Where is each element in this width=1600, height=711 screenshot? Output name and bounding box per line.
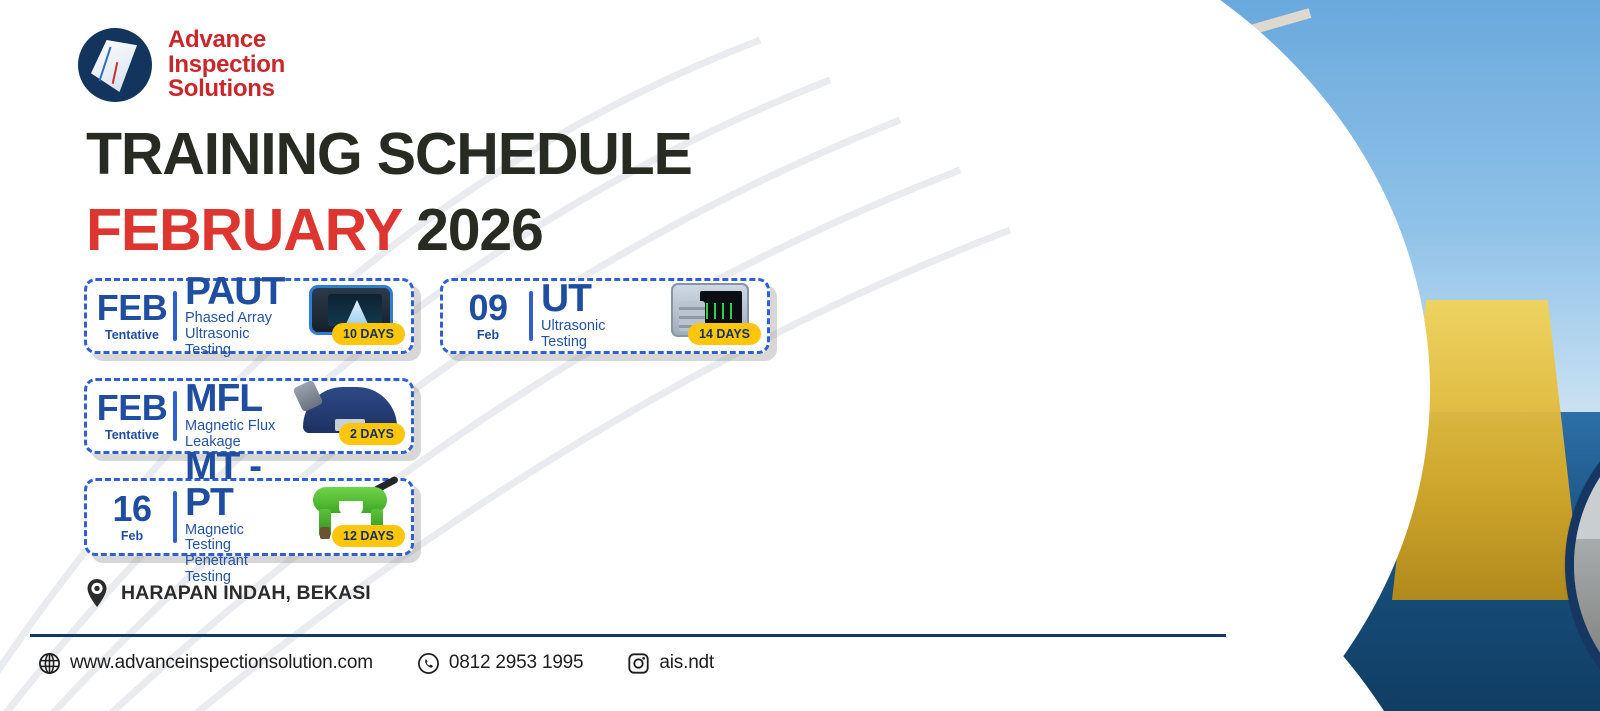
course-code: PAUT: [185, 274, 293, 310]
course-duration-badge: 14 DAYS: [688, 323, 761, 345]
course-date-small: Tentative: [105, 328, 159, 342]
course-card-mtpt[interactable]: 16 Feb MT -PT Magnetic Testing Penetrant…: [84, 478, 414, 556]
brand-line-3: Solutions: [168, 77, 285, 101]
course-desc-line-1: Phased Array: [185, 311, 293, 327]
course-date-big: FEB: [97, 390, 168, 425]
course-info: UT Ultrasonic Testing: [541, 281, 649, 351]
phone-label: 0812 2953 1995: [449, 652, 584, 674]
course-card-paut[interactable]: FEB Tentative PAUT Phased Array Ultrason…: [84, 278, 414, 354]
course-card-mfl[interactable]: FEB Tentative MFL Magnetic Flux Leakage …: [84, 378, 414, 454]
course-date-big: 09: [468, 290, 507, 325]
footer-instagram[interactable]: ais.ndt: [627, 652, 714, 675]
footer-website[interactable]: www.advanceinspectionsolution.com: [38, 652, 373, 675]
course-date: 09 Feb: [443, 281, 529, 351]
course-code: MT -PT: [185, 449, 293, 521]
location-label: HARAPAN INDAH, BEKASI: [121, 582, 371, 605]
page-title: TRAINING SCHEDULE: [86, 120, 692, 188]
course-desc-line-1: Magnetic Testing: [185, 523, 293, 554]
brand-name: Advance Inspection Solutions: [168, 28, 285, 101]
brand-line-2: Inspection: [168, 53, 285, 77]
website-label: www.advanceinspectionsolution.com: [70, 652, 373, 674]
divider: [173, 391, 177, 441]
course-media: 2 DAYS: [293, 381, 411, 451]
course-desc-line-1: Ultrasonic Testing: [541, 319, 649, 350]
map-pin-icon: [84, 578, 110, 608]
course-date: FEB Tentative: [87, 381, 173, 451]
divider: [529, 291, 533, 341]
course-card-ut[interactable]: 09 Feb UT Ultrasonic Testing 14 DAYS: [440, 278, 770, 354]
course-media: 14 DAYS: [649, 281, 767, 351]
course-date-small: Feb: [477, 328, 499, 342]
course-date-big: FEB: [97, 290, 168, 325]
course-date-big: 16: [112, 491, 151, 526]
course-date: FEB Tentative: [87, 281, 173, 351]
flashlight-beam-logo-icon: [78, 28, 152, 102]
schedule-month: FEBRUARY: [86, 197, 401, 263]
schedule-year: 2026: [416, 197, 542, 263]
course-desc: Ultrasonic Testing: [541, 319, 649, 350]
course-media: 12 DAYS: [293, 481, 411, 553]
course-info: MFL Magnetic Flux Leakage: [185, 381, 293, 451]
course-duration-badge: 10 DAYS: [332, 323, 405, 345]
wall-poster: [1596, 412, 1600, 462]
whatsapp-icon: [417, 652, 440, 675]
photo-collage: [720, 0, 1600, 711]
course-date: 16 Feb: [87, 481, 173, 553]
left-content: Advance Inspection Solutions TRAINING SC…: [0, 0, 820, 711]
footer-contact-bar: www.advanceinspectionsolution.com 0812 2…: [38, 643, 714, 683]
footer-phone[interactable]: 0812 2953 1995: [417, 652, 584, 675]
course-date-small: Feb: [121, 529, 143, 543]
training-schedule-poster: Advance Inspection Solutions TRAINING SC…: [0, 0, 1600, 711]
course-desc-line-2: Ultrasonic Testing: [185, 327, 293, 358]
instagram-label: ais.ndt: [659, 652, 714, 674]
course-desc: Magnetic Testing Penetrant Testing: [185, 523, 293, 586]
brand-line-1: Advance: [168, 28, 285, 52]
course-duration-badge: 2 DAYS: [339, 423, 405, 445]
brand-logo: Advance Inspection Solutions: [78, 28, 285, 102]
footer-divider: [30, 634, 1226, 637]
course-desc: Phased Array Ultrasonic Testing: [185, 311, 293, 358]
course-info: MT -PT Magnetic Testing Penetrant Testin…: [185, 481, 293, 553]
divider: [173, 291, 177, 341]
course-code: MFL: [185, 381, 293, 417]
course-media: 10 DAYS: [293, 281, 411, 351]
divider: [173, 491, 177, 543]
course-date-small: Tentative: [105, 428, 159, 442]
course-info: PAUT Phased Array Ultrasonic Testing: [185, 281, 293, 351]
globe-icon: [38, 652, 61, 675]
location-row: HARAPAN INDAH, BEKASI: [84, 578, 371, 608]
instagram-icon: [627, 652, 650, 675]
page-subtitle: FEBRUARY 2026: [86, 196, 543, 264]
course-code: UT: [541, 281, 649, 317]
course-duration-badge: 12 DAYS: [332, 525, 405, 547]
